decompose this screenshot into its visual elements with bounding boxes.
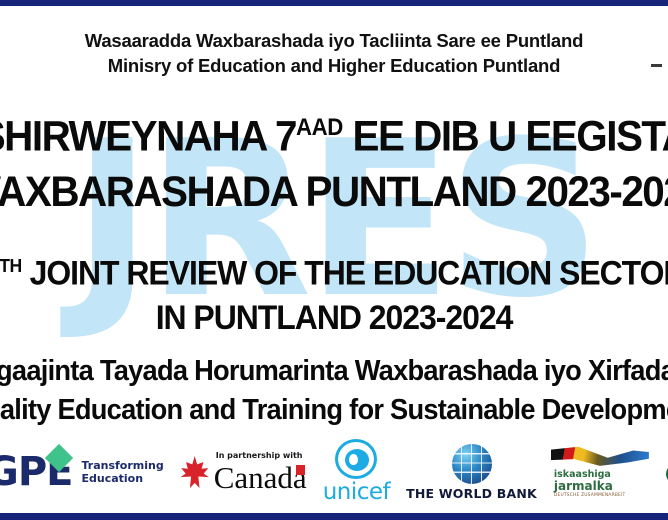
ministry-name-somali: Wasaaradda Waxbarashada iyo Tacliinta Sa… — [0, 28, 668, 53]
theme-block: Hagaajinta Tayada Horumarinta Waxbarasha… — [0, 352, 668, 430]
norad-emblem-icon — [663, 449, 668, 495]
theme-line-somali: Hagaajinta Tayada Horumarinta Waxbarasha… — [0, 352, 668, 391]
gpe-tagline: Transforming Education — [81, 459, 163, 485]
world-bank-wordmark: THE WORLD BANK — [406, 487, 537, 501]
theme-line-english: Quality Education and Training for Susta… — [0, 391, 668, 430]
english-title-line-1-post: JOINT REVIEW OF THE EDUCATION SECTOR — [22, 254, 668, 292]
somali-title-line-1: SHIRWEYNAHA 7AAD EE DIB U EEGISTA — [0, 100, 668, 164]
giz-swoosh-icon — [551, 445, 649, 469]
logo-norad: Norad — [663, 449, 668, 495]
giz-wordmark: iskaashiga jarmalka — [554, 470, 613, 493]
somali-title-line-1-pre: SHIRWEYNAHA 7 — [0, 112, 296, 160]
canada-wordmark: Canada — [214, 461, 307, 494]
logo-canada: In partnership with Canada — [180, 450, 307, 494]
gpe-tagline-line-2: Education — [81, 472, 163, 485]
ministry-header: Wasaaradda Waxbarashada iyo Tacliinta Sa… — [0, 28, 668, 78]
registration-mark — [651, 64, 662, 67]
ministry-name-english: Minisry of Education and Higher Educatio… — [0, 53, 668, 78]
somali-title-block: SHIRWEYNAHA 7AAD EE DIB U EEGISTA WAXBAR… — [0, 100, 668, 220]
unicef-emblem-icon — [335, 439, 377, 479]
english-title-ordinal-suffix: TH — [0, 255, 22, 276]
canada-text-group: In partnership with Canada — [214, 450, 307, 494]
somali-title-ordinal-suffix: AAD — [296, 115, 343, 141]
unicef-wordmark: unicef — [323, 480, 390, 505]
somali-title-line-1-post: EE DIB U EEGISTA — [343, 112, 668, 160]
logo-world-bank: THE WORLD BANK — [406, 444, 537, 501]
logo-giz: iskaashiga jarmalka DEUTSCHE ZUSAMMENARB… — [551, 445, 649, 499]
logo-unicef: unicef — [323, 439, 390, 505]
maple-leaf-icon — [180, 456, 210, 488]
logo-gpe: GPE Transforming Education — [0, 452, 164, 492]
partner-logo-strip: GPE Transforming Education In partnershi… — [0, 437, 668, 507]
world-bank-globe-icon — [452, 444, 492, 484]
english-title-line-1: 7TH JOINT REVIEW OF THE EDUCATION SECTOR — [0, 243, 668, 296]
canada-flag-icon — [292, 465, 309, 475]
giz-subtitle: DEUTSCHE ZUSAMMENARBEIT — [554, 493, 626, 499]
english-title-line-2: IN PUNTLAND 2023-2024 — [0, 296, 668, 341]
gpe-tagline-line-1: Transforming — [81, 459, 163, 472]
english-title-block: 7TH JOINT REVIEW OF THE EDUCATION SECTOR… — [0, 243, 668, 341]
somali-title-line-2: WAXBARASHADA PUNTLAND 2023-2024 — [0, 164, 668, 220]
giz-wordmark-line-2: jarmalka — [554, 480, 613, 493]
